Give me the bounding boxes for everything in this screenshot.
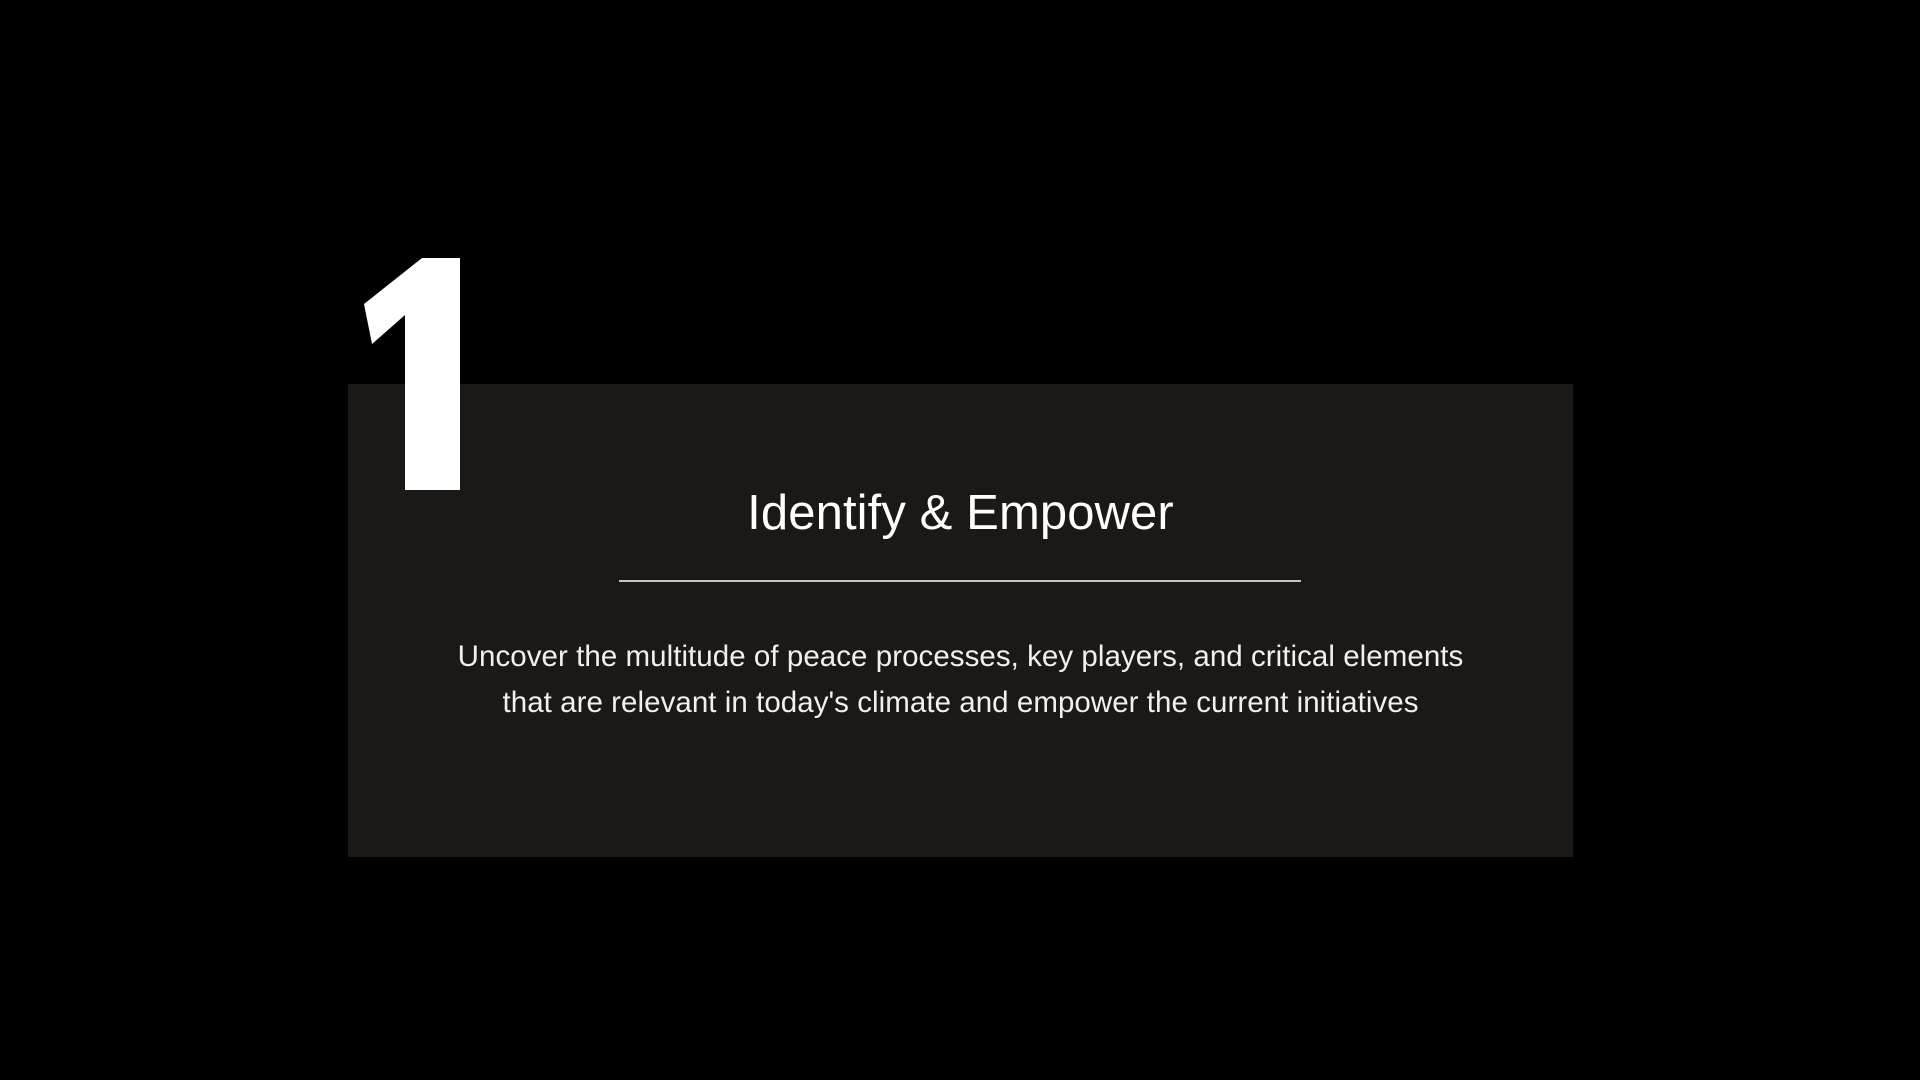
title-divider [619,580,1301,582]
step-number-1 [348,258,498,490]
step-card-content: Identify & Empower Uncover the multitude… [348,384,1573,857]
step-description: Uncover the multitude of peace processes… [441,634,1481,726]
step-title: Identify & Empower [348,484,1573,542]
step-card: Identify & Empower Uncover the multitude… [348,384,1573,857]
slide-canvas: Identify & Empower Uncover the multitude… [0,0,1920,1080]
